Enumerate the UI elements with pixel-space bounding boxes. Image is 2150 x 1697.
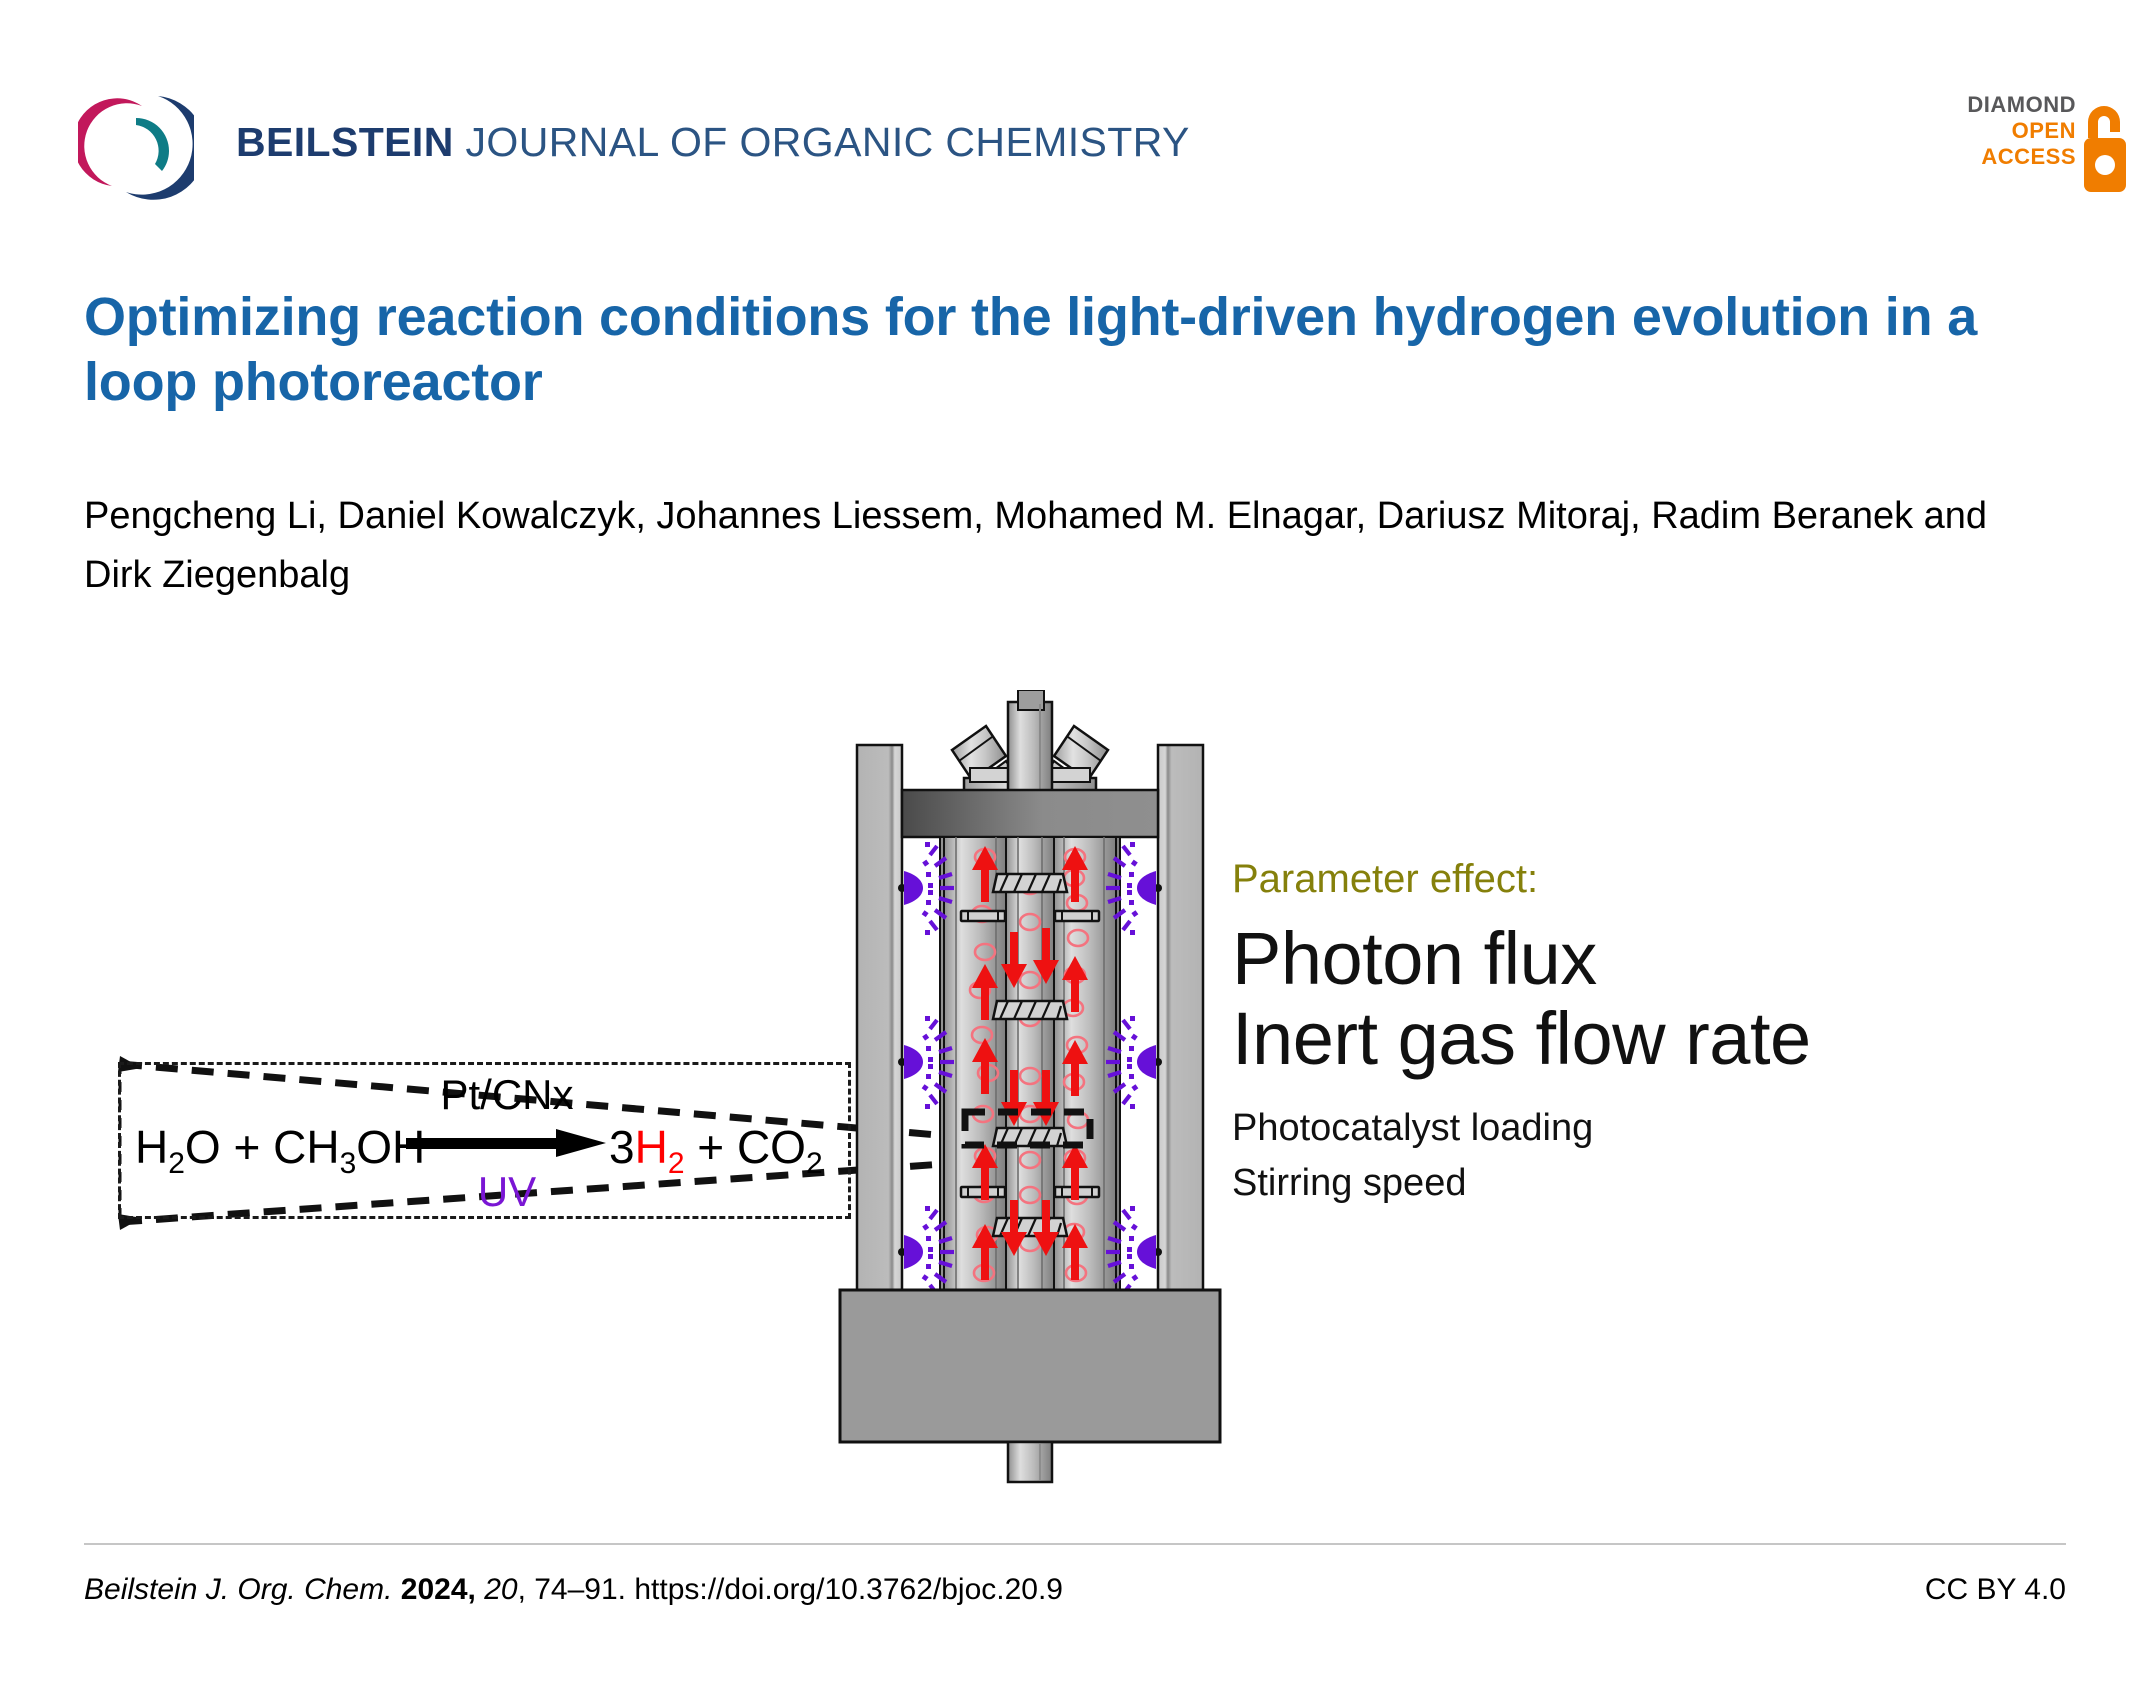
parameter-secondary-2: Stirring speed [1232,1156,2062,1211]
reaction-equation-box: H2O + CH3OH Pt/CNx UV 3H2 + CO2 [118,1062,851,1219]
footer-journal: Beilstein J. Org. Chem. [84,1573,392,1606]
product-h2-sub: 2 [668,1147,685,1180]
beilstein-triple-arc-logo [78,88,194,204]
footer-pages-doi[interactable]: , 74–91. https://doi.org/10.3762/bjoc.20… [518,1573,1063,1606]
open-padlock-icon [2078,92,2132,196]
footer-citation: Beilstein J. Org. Chem. 2024, 20, 74–91.… [84,1573,1063,1607]
footer-volume: 20 [484,1573,517,1606]
reactant-mid: O + CH [185,1121,340,1173]
reactant-h-sub: 2 [168,1147,185,1180]
product-h2: H [635,1121,668,1173]
reactor-support-post-right [1158,745,1203,1290]
reactant-c-sub: 3 [340,1147,357,1180]
footer-year: 2024, [401,1573,476,1606]
page-header: BEILSTEIN JOURNAL OF ORGANIC CHEMISTRY D… [0,0,2150,200]
reactor-support-post-left [857,745,902,1290]
equation-products: 3H2 + CO2 [609,1120,823,1181]
oa-line-access: ACCESS [1967,144,2076,170]
oa-line-diamond: DIAMOND [1967,92,2076,118]
equation-light-label: UV [402,1168,612,1216]
author-list: Pengcheng Li, Daniel Kowalczyk, Johannes… [84,487,2014,605]
reaction-arrow-icon [406,1127,606,1159]
reactant-h: H [135,1121,168,1173]
product-co2: + CO [685,1121,806,1173]
journal-name-rest: JOURNAL OF ORGANIC CHEMISTRY [454,119,1190,165]
equation-reactants: H2O + CH3OH [135,1120,425,1181]
reactor-bottom-stub [1008,1442,1052,1482]
footer-license: CC BY 4.0 [1925,1573,2066,1607]
oa-line-open: OPEN [1967,118,2076,144]
journal-name: BEILSTEIN JOURNAL OF ORGANIC CHEMISTRY [236,119,1190,166]
product-co2-sub: 2 [806,1147,823,1180]
parameter-primary-2: Inert gas flow rate [1232,999,2062,1079]
product-coefficient: 3 [609,1121,635,1173]
footer-divider [84,1543,2066,1545]
equation-catalyst-label: Pt/CNx [402,1071,612,1119]
parameter-primary-1: Photon flux [1232,919,2062,999]
drive-shaft-icon [1008,690,1052,794]
parameter-secondary-1: Photocatalyst loading [1232,1101,2062,1156]
page-title: Optimizing reaction conditions for the l… [84,285,2014,415]
reactor-base-block [840,1290,1220,1442]
parameter-effect-block: Parameter effect: Photon flux Inert gas … [1232,855,2062,1211]
journal-name-bold: BEILSTEIN [236,119,454,165]
parameter-effect-label: Parameter effect: [1232,855,2062,903]
loop-photoreactor-diagram [830,690,1230,1490]
reactor-top-flange [902,790,1158,837]
open-access-badge-text: DIAMOND OPEN ACCESS [1967,92,2076,170]
